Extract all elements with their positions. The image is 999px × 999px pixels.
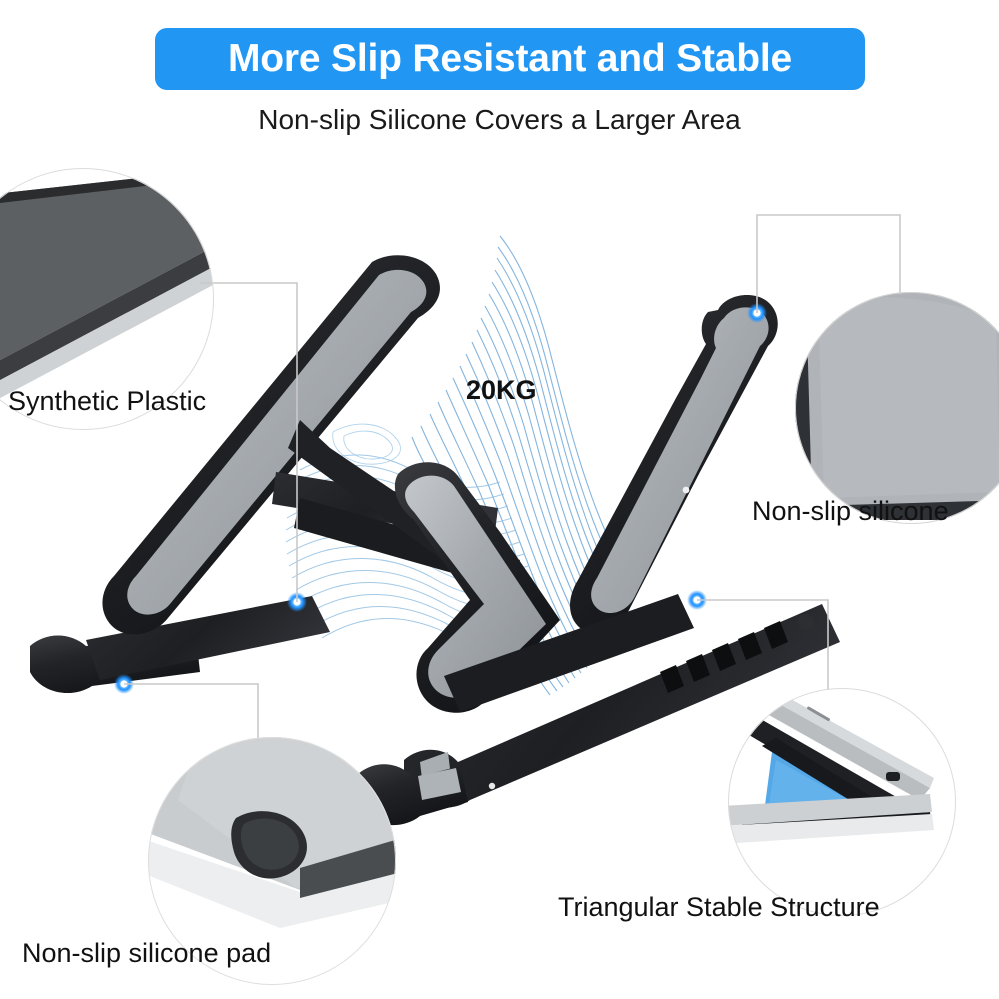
callout-label-triangular-structure: Triangular Stable Structure: [558, 892, 880, 923]
page-title: More Slip Resistant and Stable: [228, 37, 792, 81]
weight-badge-text: 20KG: [466, 375, 537, 405]
callout-label-silicone-pad: Non-slip silicone pad: [22, 938, 271, 969]
indicator-dot-plastic: [287, 592, 307, 612]
indicator-dot-silicone: [747, 303, 767, 323]
page-subtitle: Non-slip Silicone Covers a Larger Area: [0, 104, 999, 136]
front-support-arm: [570, 295, 778, 634]
indicator-dot-triangle: [687, 590, 707, 610]
callout-label-synthetic-plastic: Synthetic Plastic: [8, 386, 206, 417]
header-banner: More Slip Resistant and Stable: [155, 28, 865, 90]
callout-circle-triangular-structure: [728, 688, 956, 916]
callout-label-non-slip-silicone: Non-slip silicone: [752, 496, 949, 527]
indicator-dot-pad: [114, 674, 134, 694]
